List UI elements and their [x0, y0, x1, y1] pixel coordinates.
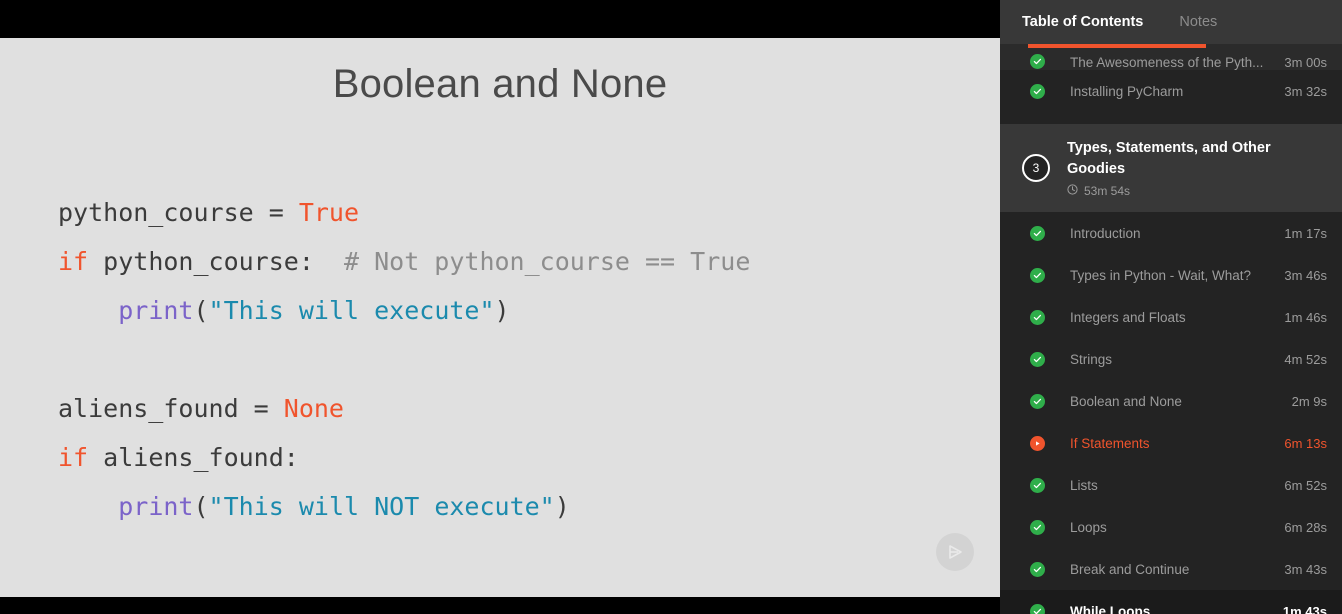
completed-check-icon — [1028, 476, 1046, 494]
video-progress-bar[interactable] — [1028, 44, 1206, 48]
letterbox-bottom — [0, 597, 1000, 614]
code-token-kw: if — [58, 443, 88, 472]
code-line: python_course = True — [58, 188, 750, 237]
code-token-plain — [58, 492, 118, 521]
toc-item-duration: 3m 43s — [1284, 562, 1327, 577]
code-token-plain: aliens_found: — [88, 443, 299, 472]
code-line: if python_course: # Not python_course ==… — [58, 237, 750, 286]
toc-item[interactable]: Strings4m 52s — [1000, 338, 1342, 380]
toc-item-title: Break and Continue — [1070, 562, 1284, 577]
toc-item[interactable]: Introduction1m 17s — [1000, 212, 1342, 254]
toc-item-duration: 6m 28s — [1284, 520, 1327, 535]
tab-table-of-contents[interactable]: Table of Contents — [1022, 14, 1143, 30]
toc-item-duration: 1m 17s — [1284, 226, 1327, 241]
code-token-func: print — [118, 296, 193, 325]
toc-item[interactable]: While Loops1m 43s — [1000, 590, 1342, 614]
completed-check-icon — [1028, 392, 1046, 410]
letterbox-top — [0, 0, 1000, 38]
section-duration-text: 53m 54s — [1084, 184, 1130, 198]
section-duration: 53m 54s — [1067, 184, 1307, 198]
sidebar-tabs: Table of Contents Notes — [1000, 0, 1342, 44]
toc-section-header[interactable]: 3Types, Statements, and Other Goodies53m… — [1000, 124, 1342, 212]
completed-check-icon — [1028, 308, 1046, 326]
code-line — [58, 335, 750, 384]
toc-item[interactable]: Installing PyCharm3m 32s — [1000, 70, 1342, 112]
toc-item-title: Loops — [1070, 520, 1284, 535]
completed-check-icon — [1028, 560, 1046, 578]
toc-item-duration: 6m 52s — [1284, 478, 1327, 493]
code-line: if aliens_found: — [58, 433, 750, 482]
sidebar: Table of Contents Notes The Awesomeness … — [1000, 0, 1342, 614]
toc-item-title: Strings — [1070, 352, 1284, 367]
toc-list: The Awesomeness of the Pyth...3m 00sInst… — [1000, 44, 1342, 614]
code-token-func: print — [118, 492, 193, 521]
code-token-comment: # Not python_course == True — [344, 247, 750, 276]
code-token-plain: ( — [193, 296, 208, 325]
toc-item[interactable]: If Statements6m 13s — [1000, 422, 1342, 464]
toc-item-title: If Statements — [1070, 436, 1284, 451]
toc-item-duration: 6m 13s — [1284, 436, 1327, 451]
toc-item-title: Boolean and None — [1070, 394, 1292, 409]
playing-icon — [1028, 434, 1046, 452]
toc-item-title: Types in Python - Wait, What? — [1070, 268, 1284, 283]
tab-notes[interactable]: Notes — [1179, 14, 1217, 30]
toc-item-partial-wrapper: The Awesomeness of the Pyth...3m 00s — [1000, 44, 1342, 70]
toc-item-title: While Loops — [1070, 604, 1283, 614]
toc-item-duration: 3m 46s — [1284, 268, 1327, 283]
toc-item[interactable]: Boolean and None2m 9s — [1000, 380, 1342, 422]
video-player[interactable]: Boolean and None python_course = Trueif … — [0, 0, 1000, 614]
course-player: Boolean and None python_course = Trueif … — [0, 0, 1342, 614]
toc-item-duration: 3m 00s — [1284, 55, 1327, 70]
toc-item-title: Integers and Floats — [1070, 310, 1284, 325]
code-token-lit: True — [299, 198, 359, 227]
toc-item-duration: 4m 52s — [1284, 352, 1327, 367]
completed-check-icon — [1028, 224, 1046, 242]
code-token-plain — [58, 296, 118, 325]
section-title: Types, Statements, and Other Goodies — [1067, 138, 1307, 180]
toc-item[interactable]: Types in Python - Wait, What?3m 46s — [1000, 254, 1342, 296]
play-triangle-outline-icon — [936, 533, 974, 571]
code-token-plain: ( — [193, 492, 208, 521]
section-divider — [1000, 112, 1342, 124]
toc-item-duration: 1m 43s — [1283, 604, 1327, 614]
toc-item[interactable]: Break and Continue3m 43s — [1000, 548, 1342, 590]
completed-check-icon — [1028, 266, 1046, 284]
code-token-plain: ) — [555, 492, 570, 521]
slide-code-block: python_course = Trueif python_course: # … — [58, 188, 750, 531]
code-line: print("This will NOT execute") — [58, 482, 750, 531]
toc-item[interactable]: Loops6m 28s — [1000, 506, 1342, 548]
toc-item[interactable]: Lists6m 52s — [1000, 464, 1342, 506]
completed-check-icon — [1028, 602, 1046, 614]
completed-check-icon — [1028, 52, 1046, 70]
slide-content: Boolean and None python_course = Trueif … — [0, 38, 1000, 597]
clock-icon — [1067, 184, 1078, 198]
toc-item-title: Installing PyCharm — [1070, 84, 1284, 99]
code-token-plain: aliens_found = — [58, 394, 284, 423]
toc-item-title: Lists — [1070, 478, 1284, 493]
toc-item-duration: 2m 9s — [1292, 394, 1327, 409]
completed-check-icon — [1028, 82, 1046, 100]
code-token-lit: None — [284, 394, 344, 423]
toc-item-duration: 1m 46s — [1284, 310, 1327, 325]
code-token-str: "This will execute" — [209, 296, 495, 325]
completed-check-icon — [1028, 350, 1046, 368]
toc-item-duration: 3m 32s — [1284, 84, 1327, 99]
code-token-plain: python_course: — [88, 247, 344, 276]
code-line: print("This will execute") — [58, 286, 750, 335]
code-token-plain: ) — [495, 296, 510, 325]
section-body: Types, Statements, and Other Goodies53m … — [1067, 138, 1307, 198]
code-token-str: "This will NOT execute" — [209, 492, 555, 521]
section-number-badge: 3 — [1022, 154, 1050, 182]
toc-item-title: The Awesomeness of the Pyth... — [1070, 55, 1284, 70]
code-token-plain: python_course = — [58, 198, 299, 227]
completed-check-icon — [1028, 518, 1046, 536]
toc-scroll-area[interactable]: The Awesomeness of the Pyth...3m 00sInst… — [1000, 44, 1342, 614]
code-line: aliens_found = None — [58, 384, 750, 433]
slide-title: Boolean and None — [0, 62, 1000, 107]
toc-item[interactable]: Integers and Floats1m 46s — [1000, 296, 1342, 338]
toc-item-title: Introduction — [1070, 226, 1284, 241]
code-token-kw: if — [58, 247, 88, 276]
